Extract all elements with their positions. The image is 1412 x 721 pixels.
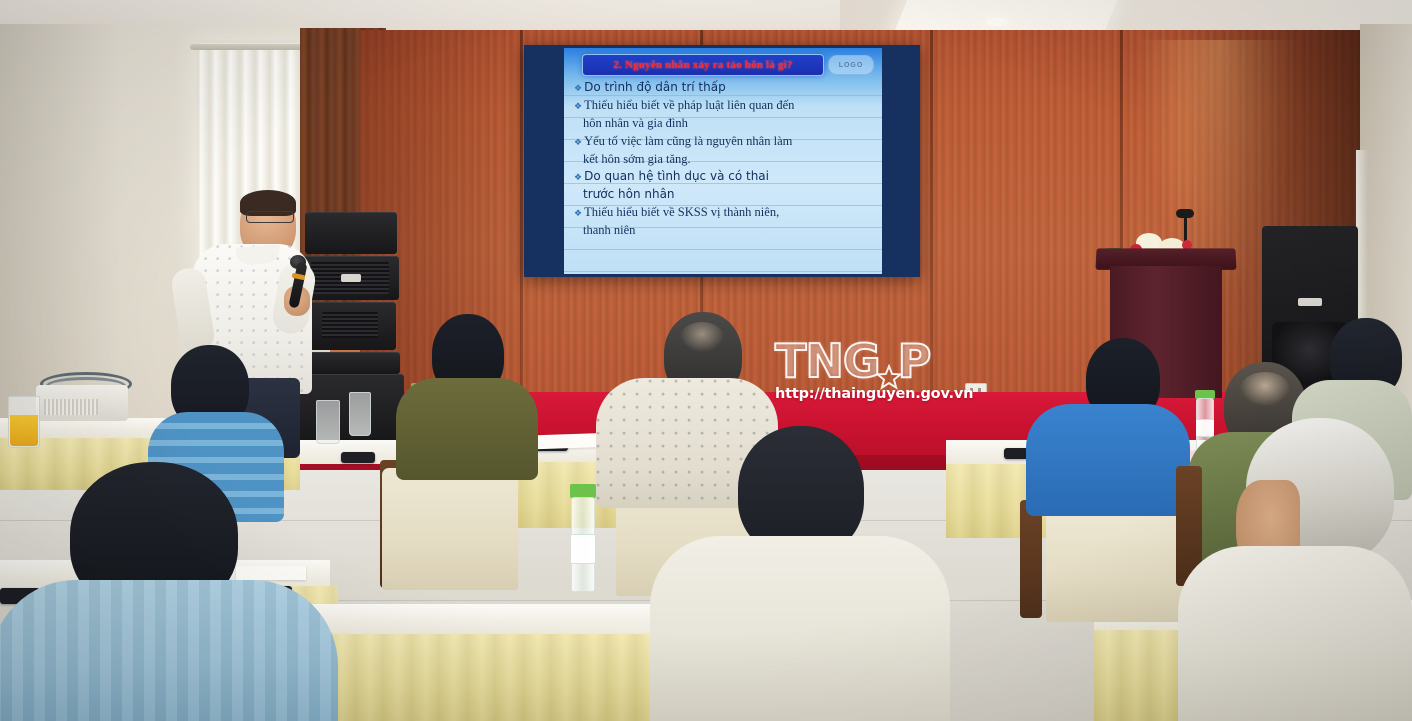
juice [10, 415, 38, 446]
attendee-bald-spot [1240, 372, 1290, 406]
bottle-cap [570, 484, 596, 498]
attendee-torso [396, 378, 538, 480]
projector [36, 385, 128, 421]
bullet-diamond-icon: ❖ [574, 169, 582, 185]
bullet-diamond-icon: ❖ [574, 98, 582, 114]
slide-logo-label: LOGO [839, 62, 864, 69]
bullet-diamond-icon: ❖ [574, 80, 582, 96]
speaker-badge [1298, 298, 1322, 306]
attendee-bald-spot [680, 322, 724, 352]
projection-screen: 2. Nguyên nhân xảy ra tảo hôn là gì? LOG… [524, 45, 920, 277]
slide-bullet: ❖ Yếu tố việc làm cũng là nguyên nhân là… [574, 134, 874, 150]
amplifier-mid-unit [303, 256, 399, 300]
amplifier-grill [322, 312, 378, 338]
slide-bullet-cont: trước hôn nhân [574, 187, 874, 203]
slide-title: 2. Nguyên nhân xảy ra tảo hôn là gì? [613, 59, 792, 71]
slide-bullet: ❖ Thiếu hiểu biết về pháp luật liên quan… [574, 98, 874, 114]
document-sheet [236, 566, 306, 580]
attendee-torso [0, 580, 338, 721]
slide-bullet-list: ❖ Do trình độ dân trí thấp ❖ Thiếu hiểu … [574, 80, 874, 240]
drinking-glass [8, 396, 40, 448]
drinking-glass [316, 400, 340, 444]
bullet-text: Thiếu hiểu biết về SKSS vị thành niên, [584, 205, 779, 221]
amplifier-top-unit [305, 212, 397, 254]
wood-seam [930, 30, 933, 430]
attendee-torso [1026, 404, 1190, 516]
slide-bullet-cont: kết hôn sớm gia tăng. [574, 152, 874, 168]
slide-logo-placeholder: LOGO [828, 55, 874, 75]
slide-bullet: ❖ Do quan hệ tình dục và có thai [574, 169, 874, 185]
bullet-text: thanh niên [583, 223, 635, 239]
water-bottle [570, 484, 596, 592]
drinking-glass [349, 392, 371, 436]
conference-room-photo: 2. Nguyên nhân xảy ra tảo hôn là gì? LOG… [0, 0, 1412, 721]
slide-bullet-cont: thanh niên [574, 223, 874, 239]
bullet-text: Thiếu hiểu biết về pháp luật liên quan đ… [584, 98, 794, 114]
projector-vent [44, 399, 98, 415]
bullet-text: hôn nhân và gia đình [583, 116, 688, 132]
chair [1046, 506, 1186, 622]
amplifier-base-unit [300, 352, 400, 374]
bullet-text: kết hôn sớm gia tăng. [583, 152, 691, 168]
curtain-rod [190, 44, 312, 50]
slide-title-banner: 2. Nguyên nhân xảy ra tảo hôn là gì? [582, 54, 824, 76]
presentation-slide: 2. Nguyên nhân xảy ra tảo hôn là gì? LOG… [564, 48, 882, 274]
slide-bullet: ❖ Do trình độ dân trí thấp [574, 80, 874, 96]
bottle-label [1196, 419, 1214, 437]
amplifier-badge [341, 274, 361, 282]
chair-frame [1020, 500, 1042, 618]
attendee-torso [1178, 546, 1412, 721]
bullet-text: Do quan hệ tình dục và có thai [584, 169, 769, 185]
bullet-diamond-icon: ❖ [574, 134, 582, 150]
bottle-label [571, 534, 595, 564]
bullet-text: Yếu tố việc làm cũng là nguyên nhân làm [584, 134, 792, 150]
presenter-eyeglasses [246, 211, 294, 223]
bullet-text: trước hôn nhân [583, 187, 675, 203]
mobile-phone [341, 452, 375, 463]
ceiling-downlight [986, 18, 1008, 26]
bullet-text: Do trình độ dân trí thấp [584, 80, 726, 96]
attendee-torso [650, 536, 950, 721]
slide-bullet-cont: hôn nhân và gia đình [574, 116, 874, 132]
amplifier-lower-unit [308, 302, 396, 350]
chair [382, 468, 518, 590]
slide-bullet: ❖ Thiếu hiểu biết về SKSS vị thành niên, [574, 205, 874, 221]
bullet-diamond-icon: ❖ [574, 205, 582, 221]
